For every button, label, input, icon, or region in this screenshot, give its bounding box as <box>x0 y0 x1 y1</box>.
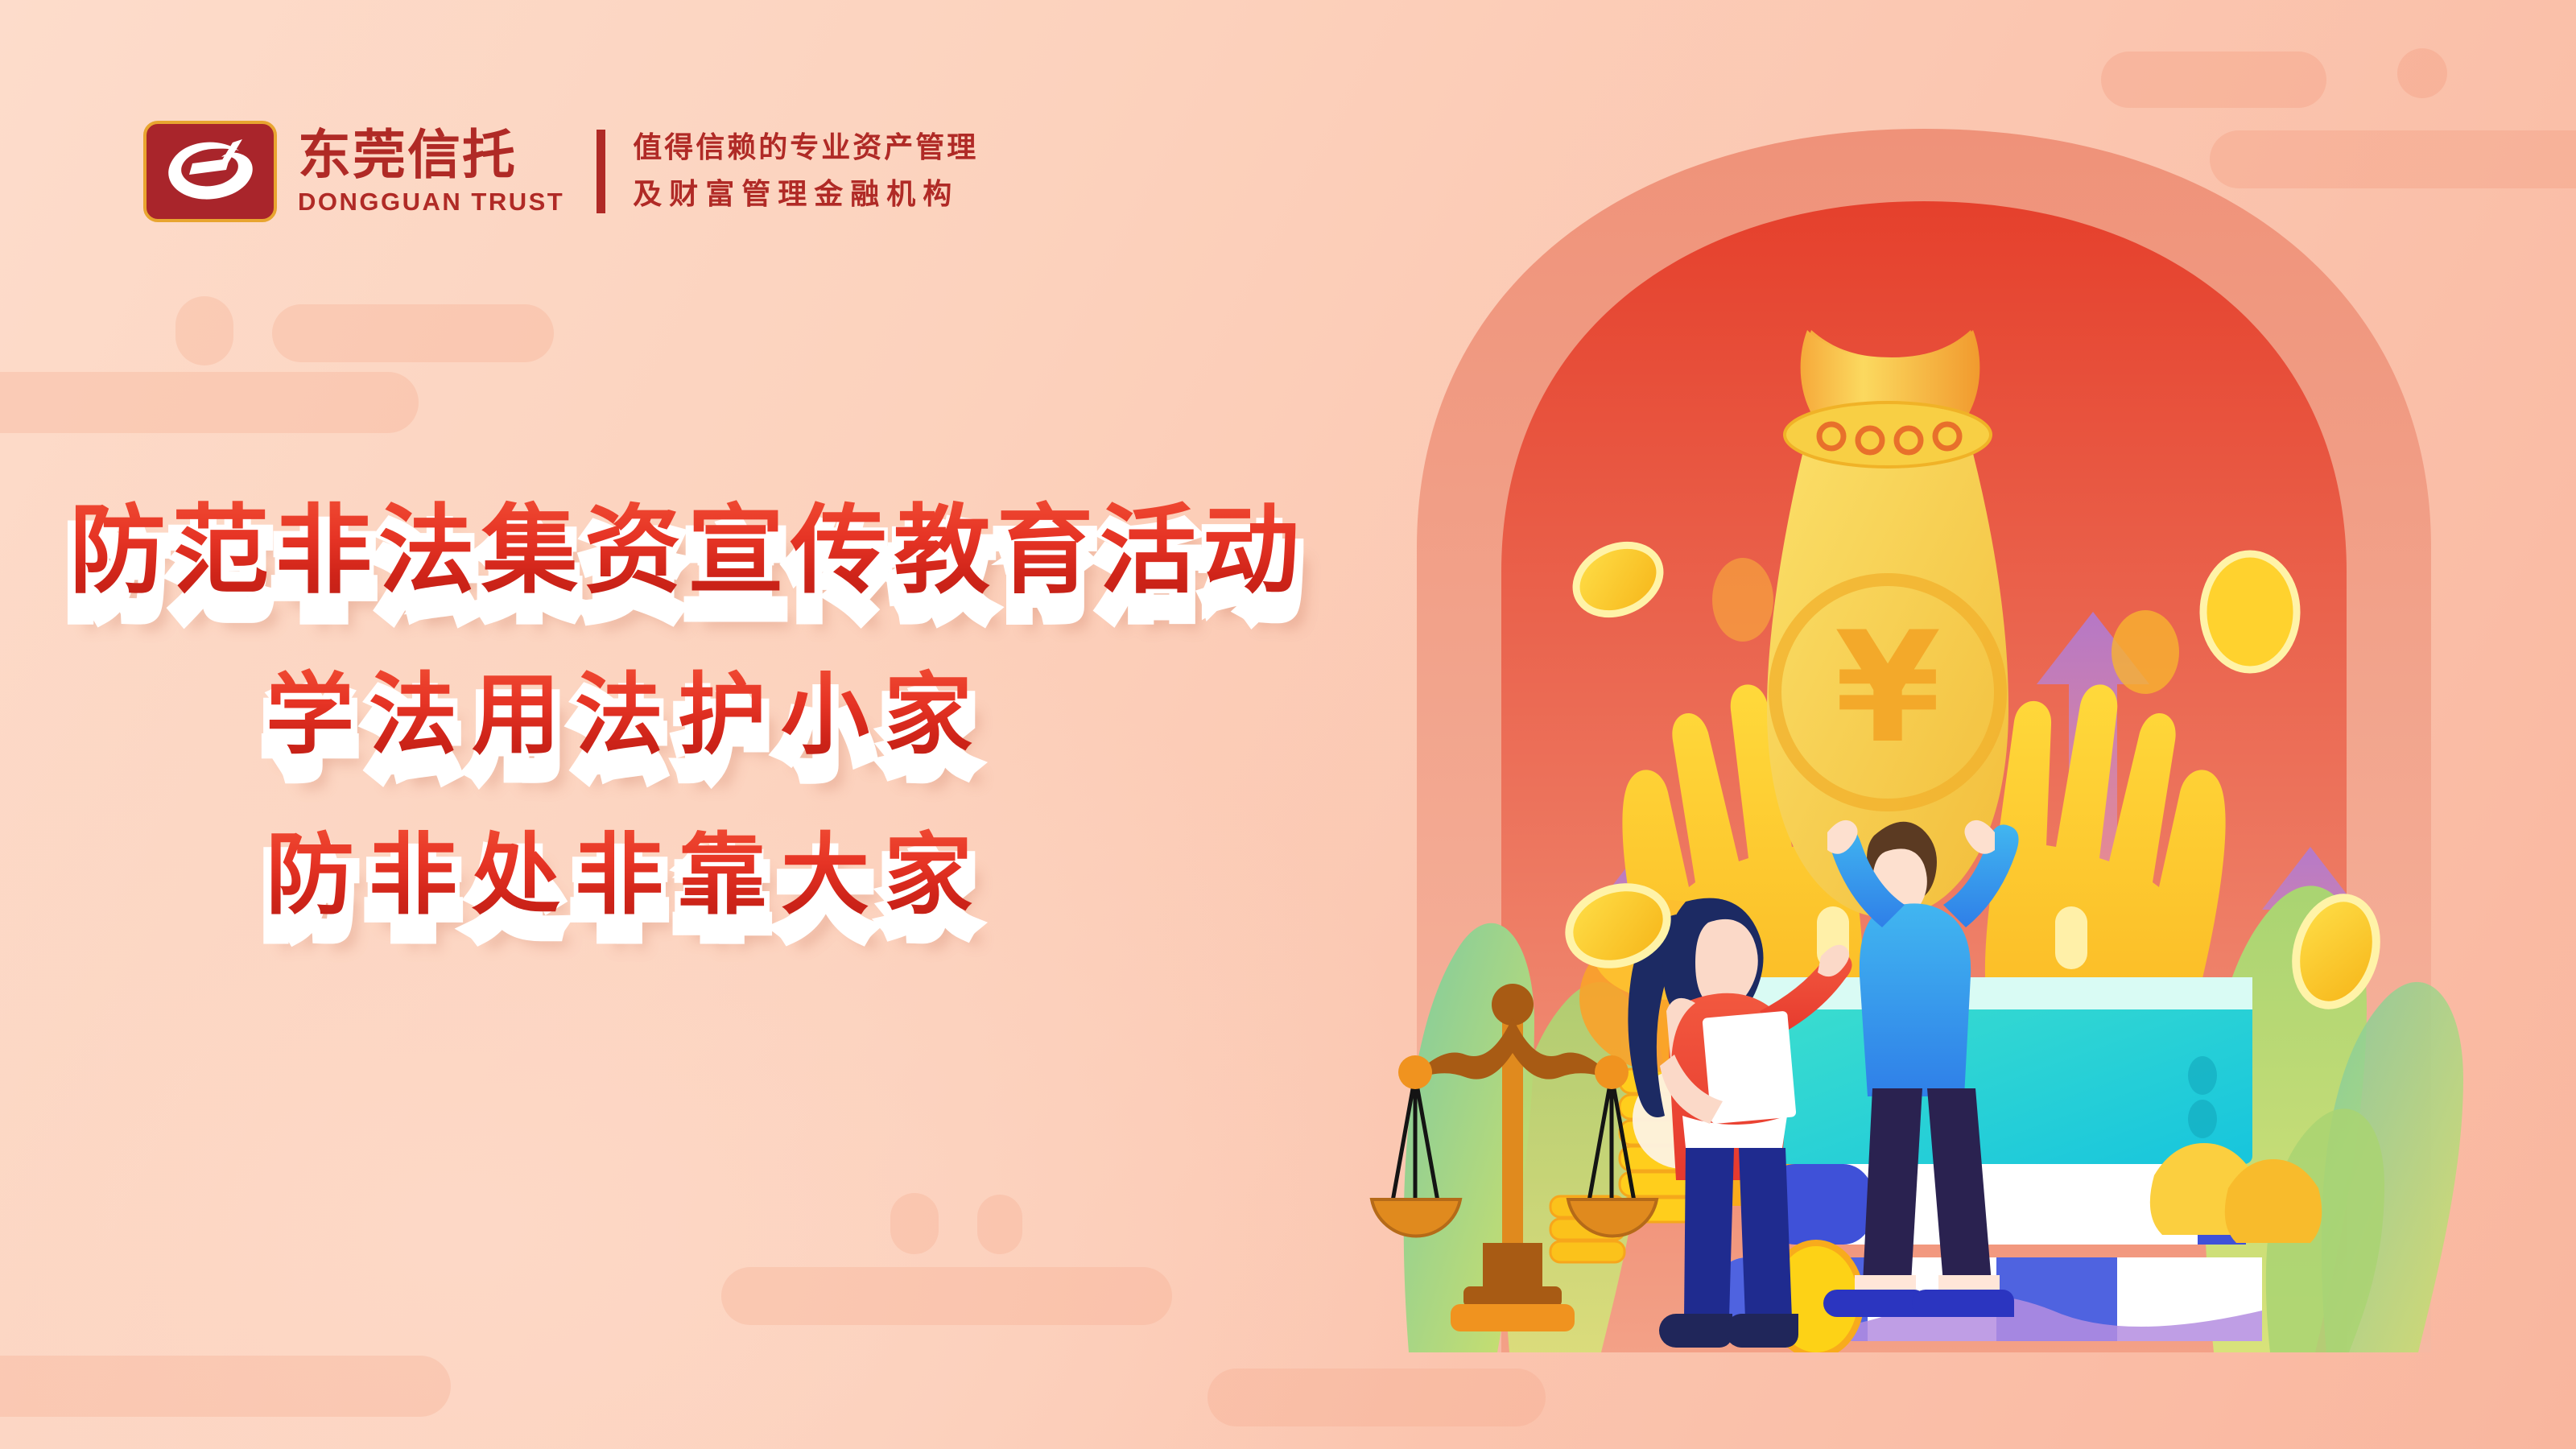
deco-dot-bottom-1 <box>890 1193 939 1254</box>
brand-header: 东莞信托 DONGGUAN TRUST 值得信赖的专业资产管理 及财富管理金融机… <box>143 121 978 222</box>
headline-1-text: 防范非法集资宣传教育活动 <box>69 495 1306 607</box>
deco-pill-bottom-3 <box>1207 1368 1546 1426</box>
brand-name-en: DONGGUAN TRUST <box>298 189 564 214</box>
deco-pill-bottom-2 <box>0 1356 451 1417</box>
deco-dot-bottom-2 <box>977 1195 1022 1254</box>
deco-dot-top-right <box>2397 48 2447 98</box>
brand-divider <box>597 130 605 213</box>
anti-illegal-fundraising-illustration: ¥ <box>1360 97 2544 1352</box>
brand-wordmark: 东莞信托 DONGGUAN TRUST <box>298 129 564 214</box>
dongguan-trust-logo-icon <box>143 121 277 222</box>
headline-block: 防范非法集资宣传教育活动 防范非法集资宣传教育活动 学法用法护小家 学法用法护小… <box>0 495 1385 927</box>
headline-row-1: 防范非法集资宣传教育活动 防范非法集资宣传教育活动 <box>69 495 1385 606</box>
tagline-line-2: 及财富管理金融机构 <box>633 180 978 209</box>
deco-pill-left-2 <box>0 372 419 433</box>
poster-banner: 东莞信托 DONGGUAN TRUST 值得信赖的专业资产管理 及财富管理金融机… <box>0 0 2576 1449</box>
headline-3-text: 防非处非靠大家 <box>266 824 987 927</box>
deco-pill-left-1 <box>272 304 554 362</box>
tagline-line-1: 值得信赖的专业资产管理 <box>633 134 978 163</box>
brand-name-cn: 东莞信托 <box>298 129 564 182</box>
deco-dot-left-1 <box>175 296 233 365</box>
deco-pill-bottom-1 <box>721 1267 1172 1325</box>
yuan-symbol: ¥ <box>1835 599 1941 777</box>
headline-row-2: 学法用法护小家 学法用法护小家 <box>266 664 1385 766</box>
headline-2-text: 学法用法护小家 <box>266 663 987 766</box>
headline-row-3: 防非处非靠大家 防非处非靠大家 <box>266 824 1385 927</box>
brand-tagline: 值得信赖的专业资产管理 及财富管理金融机构 <box>633 134 978 209</box>
